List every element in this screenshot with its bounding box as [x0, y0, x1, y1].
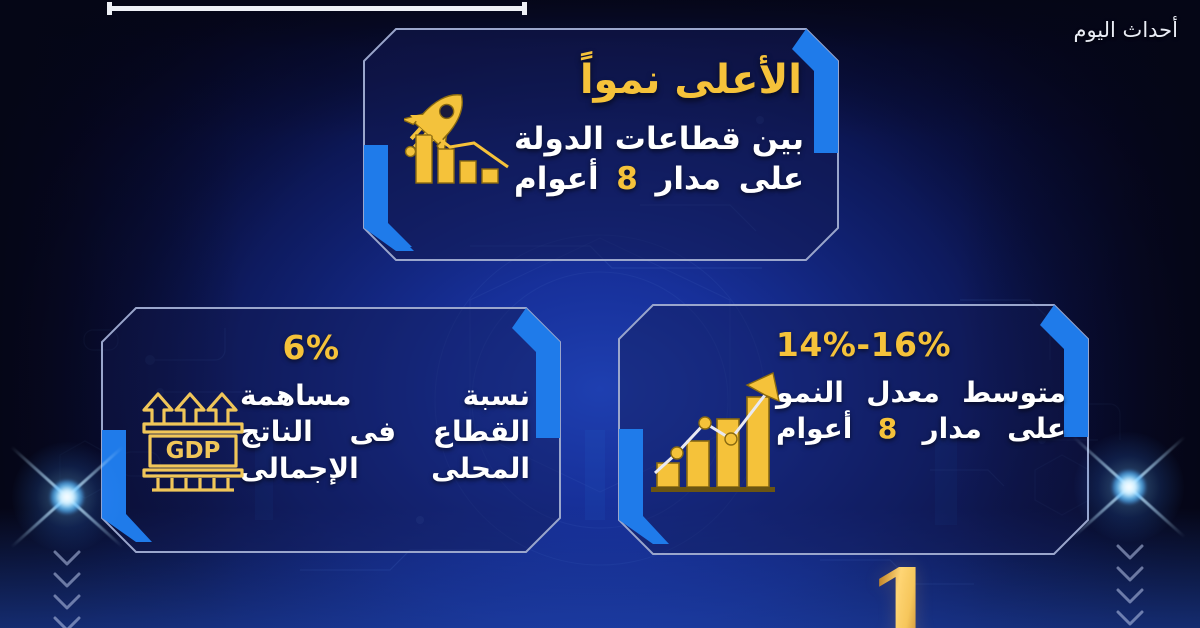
chevrons-right-icon — [1110, 540, 1150, 628]
card-gdp-share[interactable]: 6% نسبة مساهمة القطاع فى الناتج المحلى ا… — [100, 306, 562, 554]
card-body-text: نسبة مساهمة القطاع فى الناتج المحلى الإج… — [240, 378, 530, 487]
growth-bar-chart-icon — [647, 365, 783, 495]
rocket-bar-chart-icon — [404, 79, 524, 189]
gdp-building-icon: GDP — [138, 386, 254, 496]
stat-value: 16%-14% — [617, 325, 1090, 364]
card-body-text: بين قطاعات الدولة على مدار 8 أعوام — [514, 119, 804, 200]
card-title: الأعلى نمواً — [580, 57, 802, 103]
card-body-text: متوسط معدل النمو على مدار 8 أعوام — [776, 375, 1066, 448]
chevrons-left-icon — [47, 546, 87, 628]
infographic-canvas: أحداث اليوم الأعلى نمواً بين قطاعات الدو… — [0, 0, 1200, 628]
card-top-growth[interactable]: الأعلى نمواً بين قطاعات الدولة على مدار … — [362, 27, 840, 262]
watermark-label: أحداث اليوم — [1073, 18, 1178, 42]
card-growth-rate[interactable]: 16%-14% متوسط معدل النمو على مدار 8 أعوا… — [617, 303, 1090, 556]
rank-numeral: 1 — [866, 556, 941, 628]
top-rule-decoration — [107, 6, 527, 11]
svg-text:GDP: GDP — [166, 438, 221, 464]
stat-value: 6% — [100, 328, 562, 367]
